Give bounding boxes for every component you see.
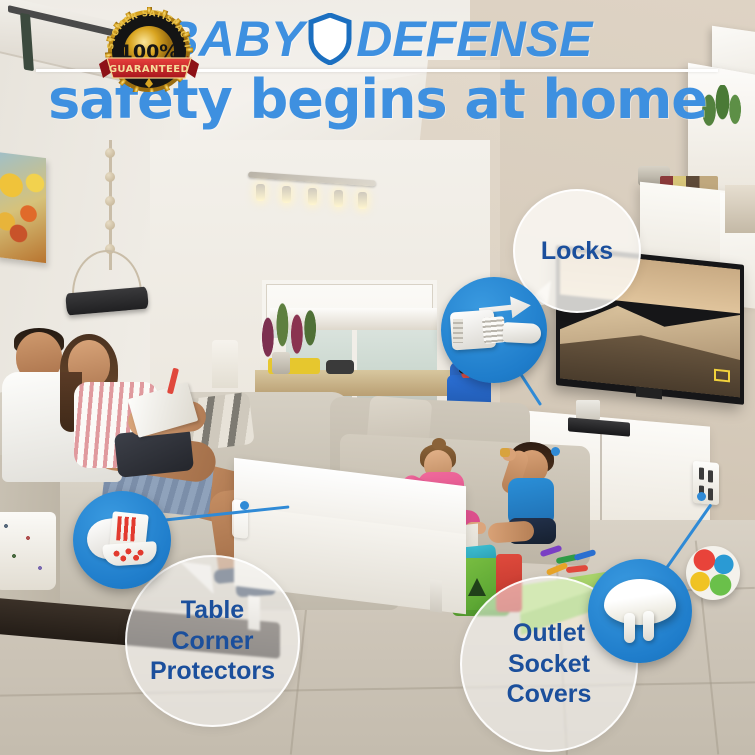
- wall-artwork: [0, 152, 46, 263]
- table-label-text: Table Corner Protectors: [150, 595, 275, 687]
- lead-endpoint-outlet: [697, 492, 706, 501]
- outlet-plug-prong: [643, 611, 654, 641]
- corner-protector-logo: [116, 516, 140, 541]
- product-circle-corner-protector: [73, 491, 171, 589]
- brand-word-defense: DEFENSE: [356, 10, 592, 68]
- bead: [105, 172, 115, 182]
- outlet-plug-cover-icon: [604, 579, 676, 625]
- outlet-plug-prong: [624, 613, 635, 643]
- locks-label-text: Locks: [541, 237, 613, 266]
- sideboard-seam: [600, 424, 602, 534]
- coffee-table-leg: [430, 579, 442, 612]
- girl-hair-bun: [432, 438, 446, 450]
- outlet-label-line-2: Socket: [507, 649, 592, 680]
- seal-ribbon: GUARANTEED: [99, 56, 199, 78]
- lead-endpoint-corner: [240, 501, 249, 510]
- track-lamp: [282, 186, 291, 203]
- dining-chair: [212, 340, 238, 388]
- corner-protector-adhesive-dots: [111, 546, 152, 563]
- storage-basket: [0, 512, 56, 590]
- track-lamp: [256, 184, 265, 201]
- promo-image: Locks Table Corner Protectors Outlet Soc…: [0, 0, 755, 755]
- outlet-label-line-3: Covers: [507, 679, 592, 710]
- boy-snack: [500, 448, 510, 457]
- bead: [105, 220, 115, 230]
- callout-label-table-corner-protectors: Table Corner Protectors: [125, 555, 300, 727]
- outlet-slot: [708, 488, 713, 500]
- product-circle-outlet-cover: [588, 559, 692, 663]
- table-label-line-1: Table: [150, 595, 275, 626]
- cabinet-lock-ribs: [453, 319, 463, 343]
- track-lamp: [358, 192, 367, 209]
- header-overlay: BABY DEFENSE safety begins at home: [0, 0, 755, 150]
- table-label-line-3: Protectors: [150, 656, 275, 687]
- counter-object: [326, 360, 354, 374]
- outlet-label-line-1: Outlet: [507, 618, 592, 649]
- colorful-ball: [686, 546, 740, 600]
- shelf-box: [725, 185, 755, 233]
- shield-icon: [308, 13, 352, 65]
- av-device-small: [576, 400, 600, 420]
- outlet-slot: [699, 467, 704, 479]
- outlet-slot: [708, 470, 713, 482]
- plant-vase: [272, 352, 290, 374]
- seal-ribbon-text: GUARANTEED: [109, 64, 189, 75]
- product-circle-locks: [441, 277, 547, 383]
- boy-leg: [487, 520, 534, 543]
- nat-geo-logo: [714, 369, 730, 383]
- outlet-label-text: Outlet Socket Covers: [507, 618, 592, 710]
- table-label-line-2: Corner: [150, 626, 275, 657]
- cabinet-lock-adhesive-pad-icon: [503, 322, 542, 344]
- customer-satisfaction-seal: CUSTOMER SATISFACTION 100% GUARANTEED: [97, 6, 201, 92]
- lead-endpoint-locks: [551, 447, 560, 456]
- bead: [105, 196, 115, 206]
- track-lamp: [334, 190, 343, 207]
- track-lamp: [308, 188, 317, 205]
